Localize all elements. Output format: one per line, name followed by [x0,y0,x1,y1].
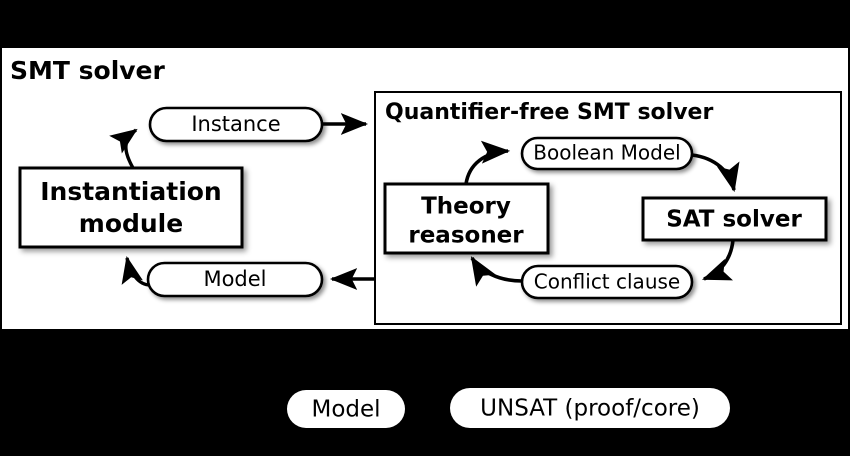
node-conflict-clause-pill[interactable]: Conflict clause [522,266,692,298]
node-instance-pill[interactable]: Instance [150,108,322,141]
node-boolean-model-pill[interactable]: Boolean Model [522,138,692,169]
instance-pill-label: Instance [191,112,280,136]
conflict-clause-pill-label: Conflict clause [534,270,680,294]
output-unsat-pill-label: UNSAT (proof/core) [480,396,700,422]
sat-solver-label: SAT solver [666,207,802,233]
node-sat-solver[interactable]: SAT solver [643,198,826,240]
node-theory-reasoner[interactable]: Theory reasoner [385,184,548,253]
instantiation-module-label-line2: module [79,209,183,238]
node-output-unsat-pill[interactable]: UNSAT (proof/core) [450,388,730,428]
diagram-canvas: SMT solver Quantifier-free SMT solver In… [0,0,850,456]
outer-panel-title: SMT solver [10,56,166,85]
boolean-model-pill-label: Boolean Model [533,141,680,165]
theory-reasoner-label-line2: reasoner [408,223,524,249]
model-pill-label: Model [203,267,266,291]
inner-panel-title: Quantifier-free SMT solver [385,100,713,125]
node-output-model-pill[interactable]: Model [287,390,405,428]
instantiation-module-label-line1: Instantiation [40,177,221,206]
node-model-pill[interactable]: Model [148,263,322,296]
output-model-pill-label: Model [311,397,380,423]
smt-solver-architecture-diagram: SMT solver Quantifier-free SMT solver In… [0,0,850,456]
node-instantiation-module[interactable]: Instantiation module [20,168,242,247]
theory-reasoner-label-line1: Theory [421,194,511,220]
